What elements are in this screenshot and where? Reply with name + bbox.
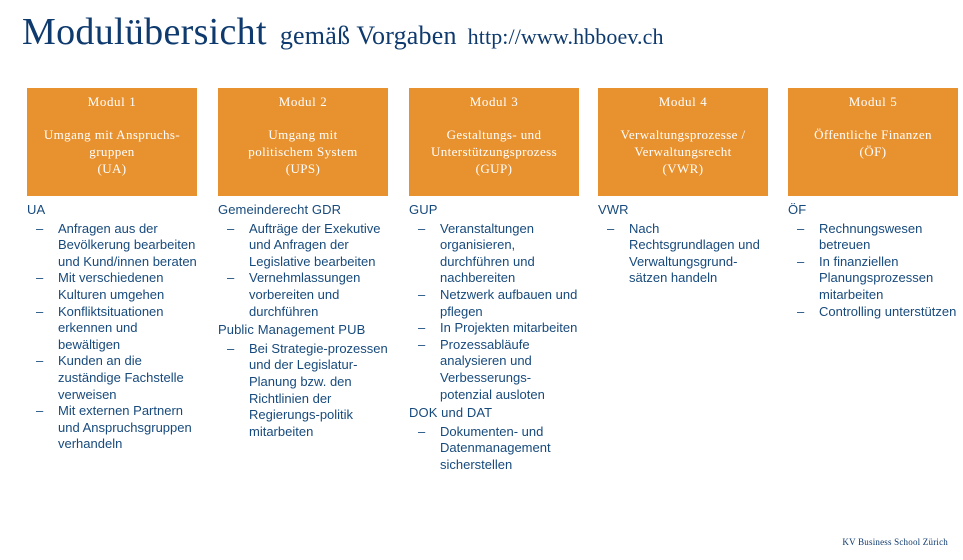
module-name-line: (UPS) xyxy=(222,160,384,177)
dash-bullet-icon: – xyxy=(418,221,425,238)
competency-group-heading: UA xyxy=(27,202,197,219)
module-name-line: Unterstützungsprozess xyxy=(413,143,575,160)
list-item: –Aufträge der Exekutive und Anfragen der… xyxy=(218,221,388,271)
dash-bullet-icon: – xyxy=(227,221,234,238)
dash-bullet-icon: – xyxy=(227,341,234,358)
module-header-box[interactable]: Modul 5Öffentliche Finanzen(ÖF) xyxy=(788,88,958,196)
competency-group-heading: DOK und DAT xyxy=(409,405,579,422)
list-item-label: Mit externen Partnern und Anspruchsgrupp… xyxy=(58,403,192,451)
title-url-text: http://www.hbboev.ch xyxy=(468,24,664,50)
list-item: –Prozessabläufe analysieren und Verbesse… xyxy=(409,337,579,403)
list-item-label: Nach Rechtsgrundlagen und Verwaltungsgru… xyxy=(629,221,760,286)
list-item-label: Bei Strategie-prozessen und der Legislat… xyxy=(249,341,388,439)
list-item: –In Projekten mitarbeiten xyxy=(409,320,579,337)
module-name-label: Verwaltungsprozesse /Verwaltungsrecht(VW… xyxy=(598,126,768,177)
module-column: Modul 1Umgang mit Anspruchs-gruppen(UA)U… xyxy=(27,88,197,453)
module-number-label: Modul 4 xyxy=(598,93,768,110)
module-name-line: Umgang mit xyxy=(222,126,384,143)
list-item: –Rechnungswesen betreuen xyxy=(788,221,958,254)
module-content: Gemeinderecht GDR–Aufträge der Exekutive… xyxy=(218,202,388,440)
list-item: –Netzwerk aufbauen und pflegen xyxy=(409,287,579,320)
module-content: GUP–Veranstaltungen organisieren, durchf… xyxy=(409,202,579,474)
module-number-label: Modul 5 xyxy=(788,93,958,110)
list-item-label: Veranstaltungen organisieren, durchführe… xyxy=(440,221,535,286)
dash-bullet-icon: – xyxy=(418,424,425,441)
module-name-line: (ÖF) xyxy=(792,143,954,160)
dash-bullet-icon: – xyxy=(36,221,43,238)
page-title: Modulübersicht gemäß Vorgaben http://www… xyxy=(22,10,952,60)
list-item-label: Netzwerk aufbauen und pflegen xyxy=(440,287,577,319)
list-item-label: Konfliktsituationen erkennen und bewälti… xyxy=(58,304,164,352)
dash-bullet-icon: – xyxy=(36,353,43,370)
module-column: Modul 5Öffentliche Finanzen(ÖF)ÖF–Rechnu… xyxy=(788,88,958,320)
module-name-label: Umgang mit Anspruchs-gruppen(UA) xyxy=(27,126,197,177)
module-name-line: Öffentliche Finanzen xyxy=(792,126,954,143)
module-name-line: Umgang mit Anspruchs- xyxy=(31,126,193,143)
module-columns-container: Modul 1Umgang mit Anspruchs-gruppen(UA)U… xyxy=(0,88,963,560)
dash-bullet-icon: – xyxy=(607,221,614,238)
module-content: ÖF–Rechnungswesen betreuen–In finanziell… xyxy=(788,202,958,320)
dash-bullet-icon: – xyxy=(227,270,234,287)
dash-bullet-icon: – xyxy=(36,270,43,287)
dash-bullet-icon: – xyxy=(797,304,804,321)
list-item: –Dokumenten- und Datenmanagement sichers… xyxy=(409,424,579,474)
module-name-label: Umgang mitpolitischem System(UPS) xyxy=(218,126,388,177)
list-item-label: Controlling unterstützen xyxy=(819,304,956,319)
module-name-line: (VWR) xyxy=(602,160,764,177)
dash-bullet-icon: – xyxy=(418,337,425,354)
list-item-label: Vernehmlassungen vorbereiten und durchfü… xyxy=(249,270,360,318)
module-number-label: Modul 1 xyxy=(27,93,197,110)
list-item: –Vernehmlassungen vorbereiten und durchf… xyxy=(218,270,388,320)
list-item: –Anfragen aus der Bevölkerung bearbeiten… xyxy=(27,221,197,271)
module-name-line: Verwaltungsrecht xyxy=(602,143,764,160)
title-subtitle-text: gemäß Vorgaben xyxy=(280,21,457,51)
competency-list: –Aufträge der Exekutive und Anfragen der… xyxy=(218,221,388,321)
dash-bullet-icon: – xyxy=(36,403,43,420)
module-header-box[interactable]: Modul 3Gestaltungs- undUnterstützungspro… xyxy=(409,88,579,196)
list-item-label: Prozessabläufe analysieren und Verbesser… xyxy=(440,337,545,402)
module-name-line: gruppen xyxy=(31,143,193,160)
competency-list: –Bei Strategie-prozessen und der Legisla… xyxy=(218,341,388,441)
module-content: VWR–Nach Rechtsgrundlagen und Verwaltung… xyxy=(598,202,768,287)
list-item-label: In Projekten mitarbeiten xyxy=(440,320,577,335)
list-item: –Veranstaltungen organisieren, durchführ… xyxy=(409,221,579,287)
title-main-text: Modulübersicht xyxy=(22,10,267,54)
module-header-box[interactable]: Modul 4Verwaltungsprozesse /Verwaltungsr… xyxy=(598,88,768,196)
dash-bullet-icon: – xyxy=(797,254,804,271)
list-item-label: Anfragen aus der Bevölkerung bearbeiten … xyxy=(58,221,197,269)
module-header-box[interactable]: Modul 2Umgang mitpolitischem System(UPS) xyxy=(218,88,388,196)
module-name-line: Verwaltungsprozesse / xyxy=(602,126,764,143)
list-item-label: Aufträge der Exekutive und Anfragen der … xyxy=(249,221,381,269)
competency-list: –Anfragen aus der Bevölkerung bearbeiten… xyxy=(27,221,197,453)
list-item: –Mit verschiedenen Kulturen umgehen xyxy=(27,270,197,303)
module-column: Modul 4Verwaltungsprozesse /Verwaltungsr… xyxy=(598,88,768,287)
module-number-label: Modul 2 xyxy=(218,93,388,110)
module-column: Modul 2Umgang mitpolitischem System(UPS)… xyxy=(218,88,388,440)
list-item: –Bei Strategie-prozessen und der Legisla… xyxy=(218,341,388,441)
module-name-label: Öffentliche Finanzen(ÖF) xyxy=(788,126,958,160)
module-name-line: (UA) xyxy=(31,160,193,177)
list-item-label: Kunden an die zuständige Fachstelle verw… xyxy=(58,353,184,401)
competency-list: –Rechnungswesen betreuen–In finanziellen… xyxy=(788,221,958,321)
list-item: –Kunden an die zuständige Fachstelle ver… xyxy=(27,353,197,403)
list-item: –Mit externen Partnern und Anspruchsgrup… xyxy=(27,403,197,453)
dash-bullet-icon: – xyxy=(797,221,804,238)
module-name-line: Gestaltungs- und xyxy=(413,126,575,143)
dash-bullet-icon: – xyxy=(36,304,43,321)
competency-group-heading: GUP xyxy=(409,202,579,219)
list-item: –Nach Rechtsgrundlagen und Verwaltungsgr… xyxy=(598,221,768,287)
module-column: Modul 3Gestaltungs- undUnterstützungspro… xyxy=(409,88,579,474)
dash-bullet-icon: – xyxy=(418,320,425,337)
list-item-label: Rechnungswesen betreuen xyxy=(819,221,922,253)
module-number-label: Modul 3 xyxy=(409,93,579,110)
list-item: –In finanziellen Planungsprozessen mitar… xyxy=(788,254,958,304)
competency-group-heading: ÖF xyxy=(788,202,958,219)
competency-group-heading: Gemeinderecht GDR xyxy=(218,202,388,219)
competency-list: –Dokumenten- und Datenmanagement sichers… xyxy=(409,424,579,474)
dash-bullet-icon: – xyxy=(418,287,425,304)
list-item-label: In finanziellen Planungsprozessen mitarb… xyxy=(819,254,933,302)
competency-group-heading: Public Management PUB xyxy=(218,322,388,339)
module-name-line: (GUP) xyxy=(413,160,575,177)
module-header-box[interactable]: Modul 1Umgang mit Anspruchs-gruppen(UA) xyxy=(27,88,197,196)
competency-list: –Nach Rechtsgrundlagen und Verwaltungsgr… xyxy=(598,221,768,287)
footer-credit: KV Business School Zürich xyxy=(842,537,948,547)
module-name-line: politischem System xyxy=(222,143,384,160)
list-item-label: Dokumenten- und Datenmanagement sicherst… xyxy=(440,424,551,472)
competency-group-heading: VWR xyxy=(598,202,768,219)
list-item-label: Mit verschiedenen Kulturen umgehen xyxy=(58,270,164,302)
list-item: –Konfliktsituationen erkennen und bewält… xyxy=(27,304,197,354)
list-item: –Controlling unterstützen xyxy=(788,304,958,321)
competency-list: –Veranstaltungen organisieren, durchführ… xyxy=(409,221,579,404)
module-name-label: Gestaltungs- undUnterstützungsprozess(GU… xyxy=(409,126,579,177)
module-content: UA–Anfragen aus der Bevölkerung bearbeit… xyxy=(27,202,197,453)
